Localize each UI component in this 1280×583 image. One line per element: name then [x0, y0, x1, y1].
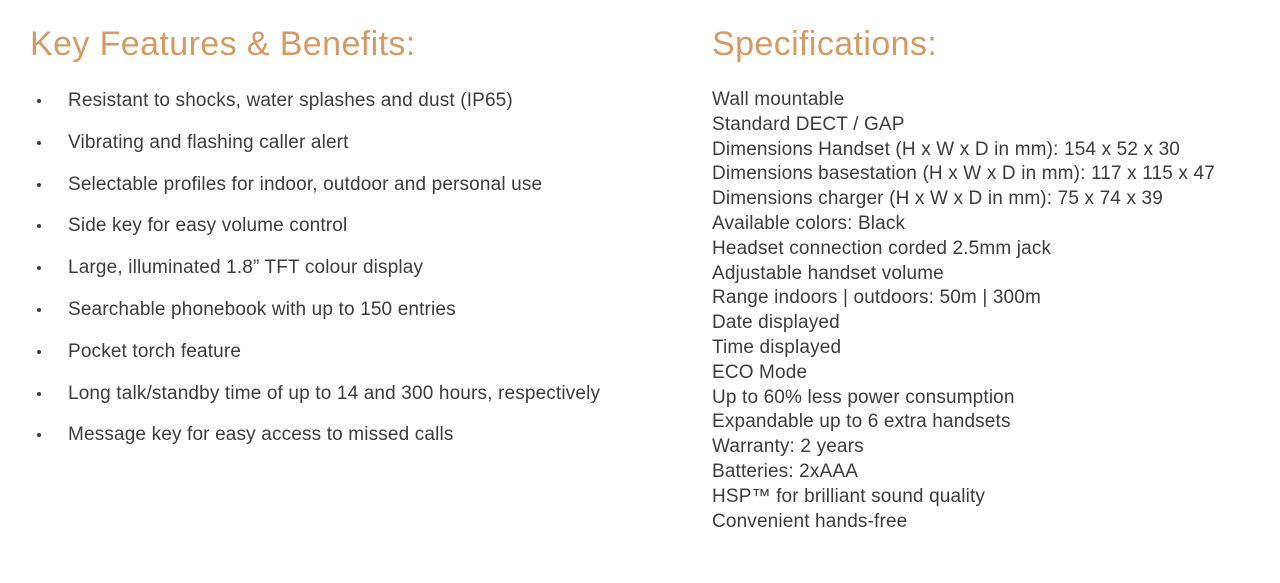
list-item: Standard DECT / GAP	[712, 113, 1262, 138]
list-item: Searchable phonebook with up to 150 entr…	[30, 297, 680, 339]
feature-text: Selectable profiles for indoor, outdoor …	[68, 172, 542, 198]
feature-text: Message key for easy access to missed ca…	[68, 422, 454, 448]
key-features-section: Key Features & Benefits: Resistant to sh…	[30, 22, 680, 464]
bullet-icon	[37, 350, 41, 354]
list-item: Range indoors | outdoors: 50m | 300m	[712, 286, 1262, 311]
feature-text: Side key for easy volume control	[68, 213, 347, 239]
list-item: Expandable up to 6 extra handsets	[712, 410, 1262, 435]
list-item: Time displayed	[712, 336, 1262, 361]
feature-text: Resistant to shocks, water splashes and …	[68, 88, 513, 114]
list-item: Pocket torch feature	[30, 339, 680, 381]
list-item: Dimensions basestation (H x W x D in mm)…	[712, 162, 1262, 187]
specifications-list: Wall mountable Standard DECT / GAP Dimen…	[712, 88, 1262, 534]
list-item: ECO Mode	[712, 361, 1262, 386]
feature-text: Searchable phonebook with up to 150 entr…	[68, 297, 456, 323]
bullet-icon	[37, 266, 41, 270]
feature-text: Large, illuminated 1.8” TFT colour displ…	[68, 255, 423, 281]
list-item: Dimensions charger (H x W x D in mm): 75…	[712, 187, 1262, 212]
list-item: Headset connection corded 2.5mm jack	[712, 237, 1262, 262]
list-item: Warranty: 2 years	[712, 435, 1262, 460]
list-item: Resistant to shocks, water splashes and …	[30, 88, 680, 130]
key-features-list: Resistant to shocks, water splashes and …	[30, 88, 680, 464]
bullet-icon	[37, 392, 41, 396]
list-item: Message key for easy access to missed ca…	[30, 422, 680, 464]
bullet-icon	[37, 141, 41, 145]
list-item: Selectable profiles for indoor, outdoor …	[30, 172, 680, 214]
list-item: Large, illuminated 1.8” TFT colour displ…	[30, 255, 680, 297]
bullet-icon	[37, 99, 41, 103]
list-item: Batteries: 2xAAA	[712, 460, 1262, 485]
bullet-icon	[37, 433, 41, 437]
list-item: Side key for easy volume control	[30, 213, 680, 255]
list-item: Vibrating and flashing caller alert	[30, 130, 680, 172]
list-item: HSP™ for brilliant sound quality	[712, 485, 1262, 510]
product-info-sheet: Key Features & Benefits: Resistant to sh…	[0, 0, 1280, 583]
list-item: Up to 60% less power consumption	[712, 386, 1262, 411]
list-item: Dimensions Handset (H x W x D in mm): 15…	[712, 138, 1262, 163]
list-item: Long talk/standby time of up to 14 and 3…	[30, 381, 680, 423]
bullet-icon	[37, 224, 41, 228]
bullet-icon	[37, 183, 41, 187]
list-item: Convenient hands-free	[712, 510, 1262, 535]
list-item: Available colors: Black	[712, 212, 1262, 237]
feature-text: Pocket torch feature	[68, 339, 241, 365]
feature-text: Long talk/standby time of up to 14 and 3…	[68, 381, 600, 407]
list-item: Adjustable handset volume	[712, 262, 1262, 287]
feature-text: Vibrating and flashing caller alert	[68, 130, 349, 156]
specifications-section: Specifications: Wall mountable Standard …	[712, 22, 1262, 534]
list-item: Date displayed	[712, 311, 1262, 336]
bullet-icon	[37, 308, 41, 312]
key-features-heading: Key Features & Benefits:	[30, 22, 680, 66]
specifications-heading: Specifications:	[712, 22, 1262, 66]
list-item: Wall mountable	[712, 88, 1262, 113]
